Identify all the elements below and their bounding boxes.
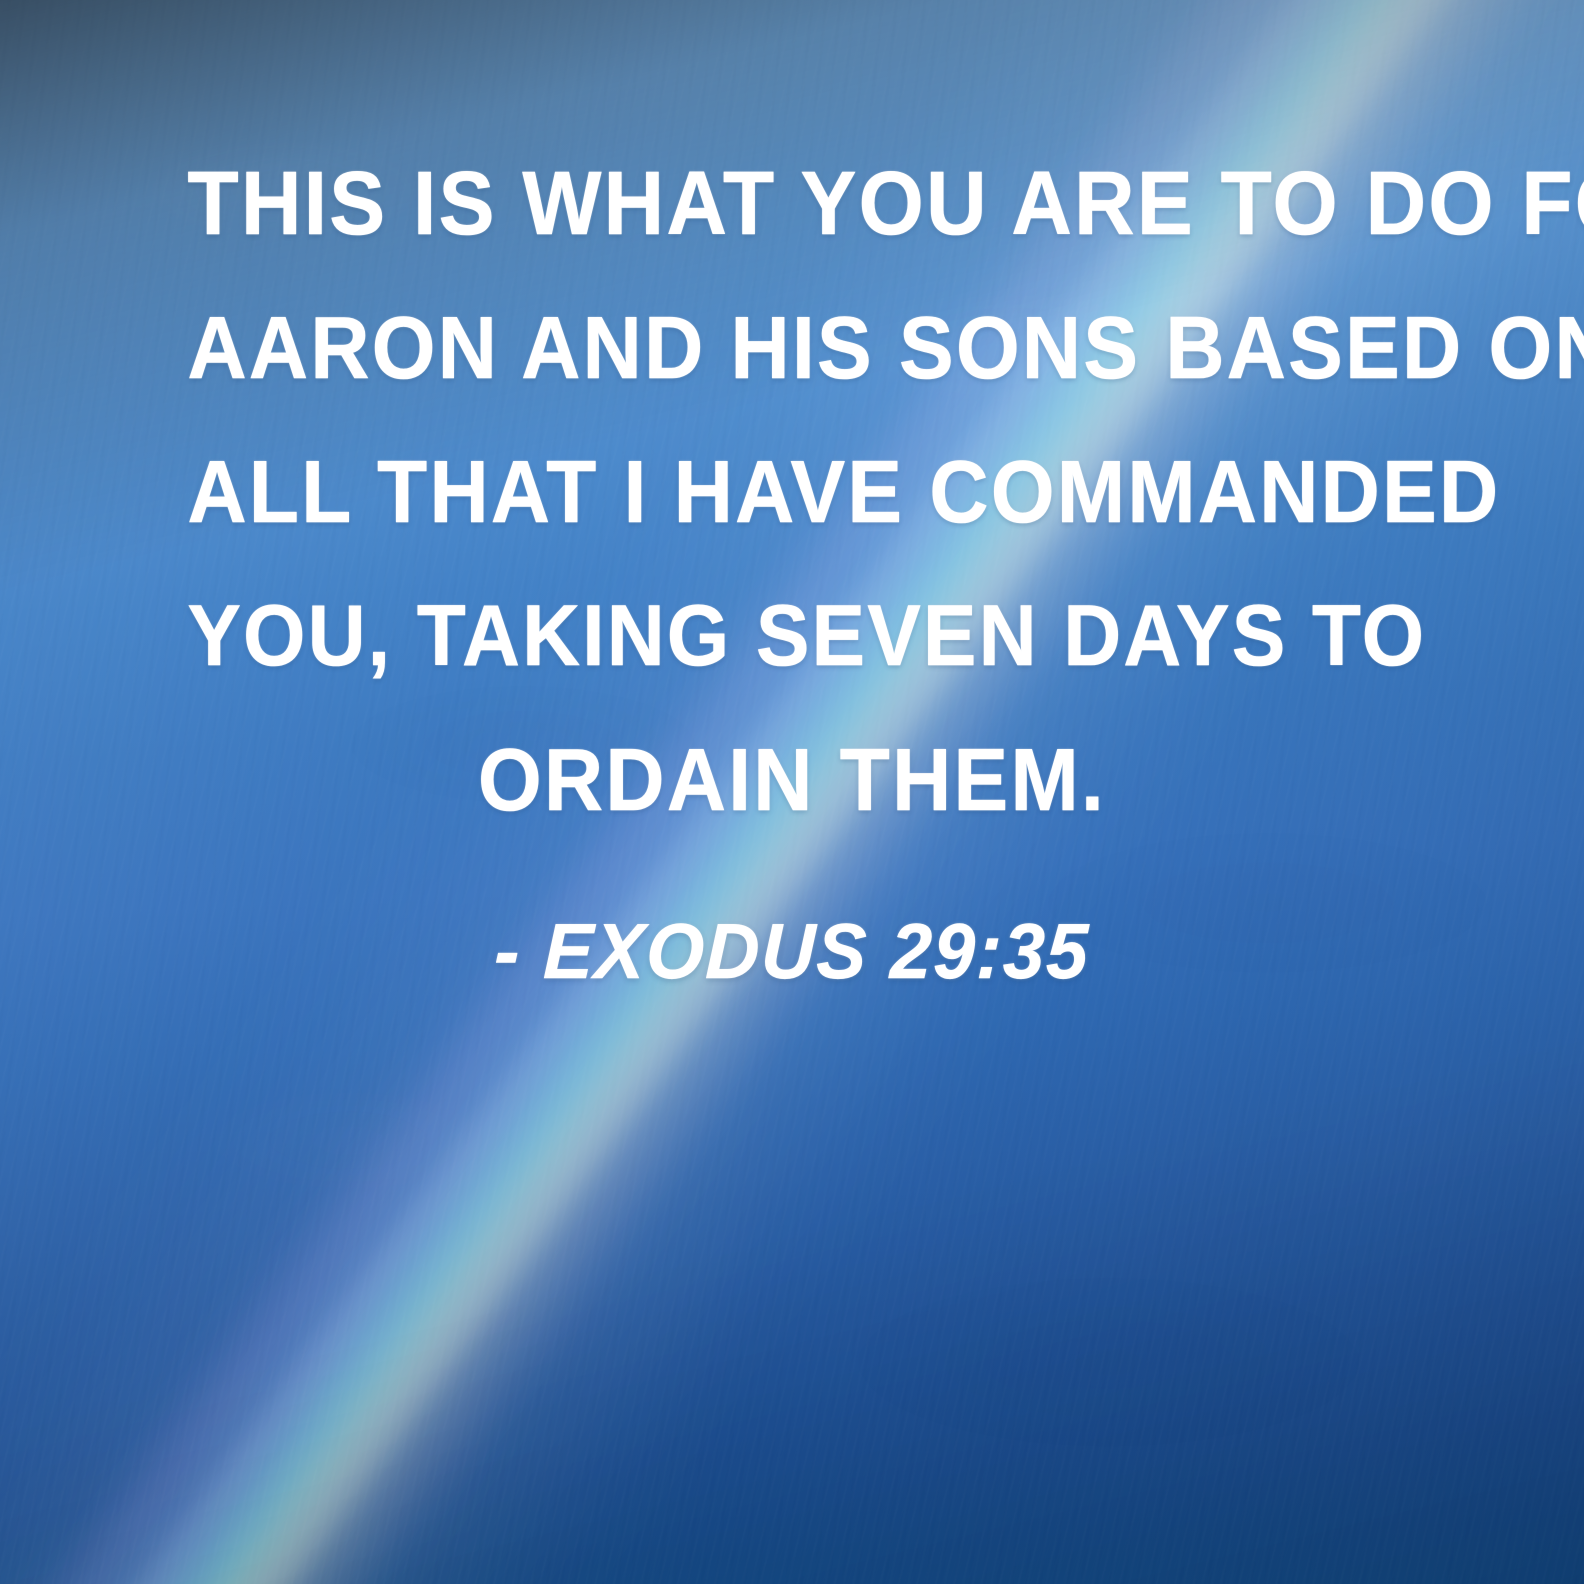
- verse-line-2: Aaron and his sons based on: [188, 276, 1397, 420]
- verse-quote-text: This is what you are to do for Aaron and…: [142, 132, 1442, 852]
- verse-content: This is what you are to do for Aaron and…: [0, 0, 1584, 1584]
- verse-line-3: all that I have commanded: [188, 420, 1397, 564]
- verse-image-canvas: This is what you are to do for Aaron and…: [0, 0, 1584, 1584]
- verse-line-1: This is what you are to do for: [188, 132, 1397, 276]
- verse-line-4: you, taking seven days to: [188, 564, 1397, 708]
- verse-line-5: ordain them.: [188, 708, 1397, 852]
- verse-citation: - Exodus 29:35: [493, 906, 1091, 997]
